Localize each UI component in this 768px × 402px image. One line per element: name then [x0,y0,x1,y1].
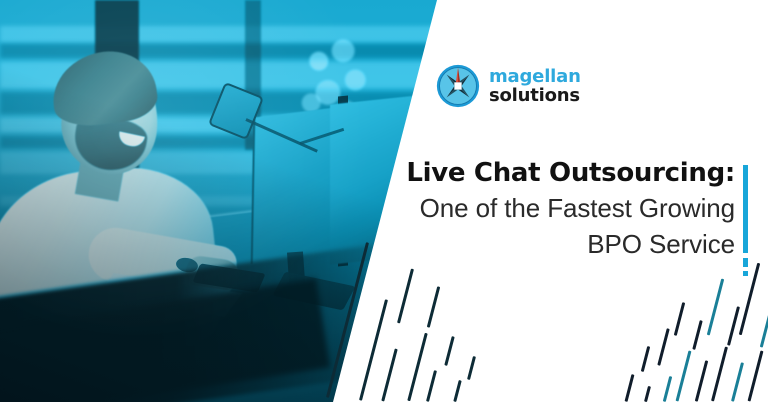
brand-wordmark: magellan solutions [489,68,581,105]
content-panel: magellan solutions Live Chat Outsourcing… [328,0,768,402]
compass-rose-icon [436,64,480,108]
headline-line-1: Live Chat Outsourcing: [395,156,735,190]
headline: Live Chat Outsourcing: One of the Fastes… [395,156,735,262]
accent-bar [743,165,748,253]
brand-name-line-1: magellan [489,68,581,86]
brand-name-line-2: solutions [489,87,581,105]
accent-dash [743,258,748,267]
brand-logo[interactable]: magellan solutions [436,64,581,108]
promo-banner: magellan solutions Live Chat Outsourcing… [0,0,768,402]
headline-line-3: BPO Service [395,226,735,262]
accent-dash [743,271,748,276]
headline-line-2: One of the Fastest Growing [395,190,735,226]
